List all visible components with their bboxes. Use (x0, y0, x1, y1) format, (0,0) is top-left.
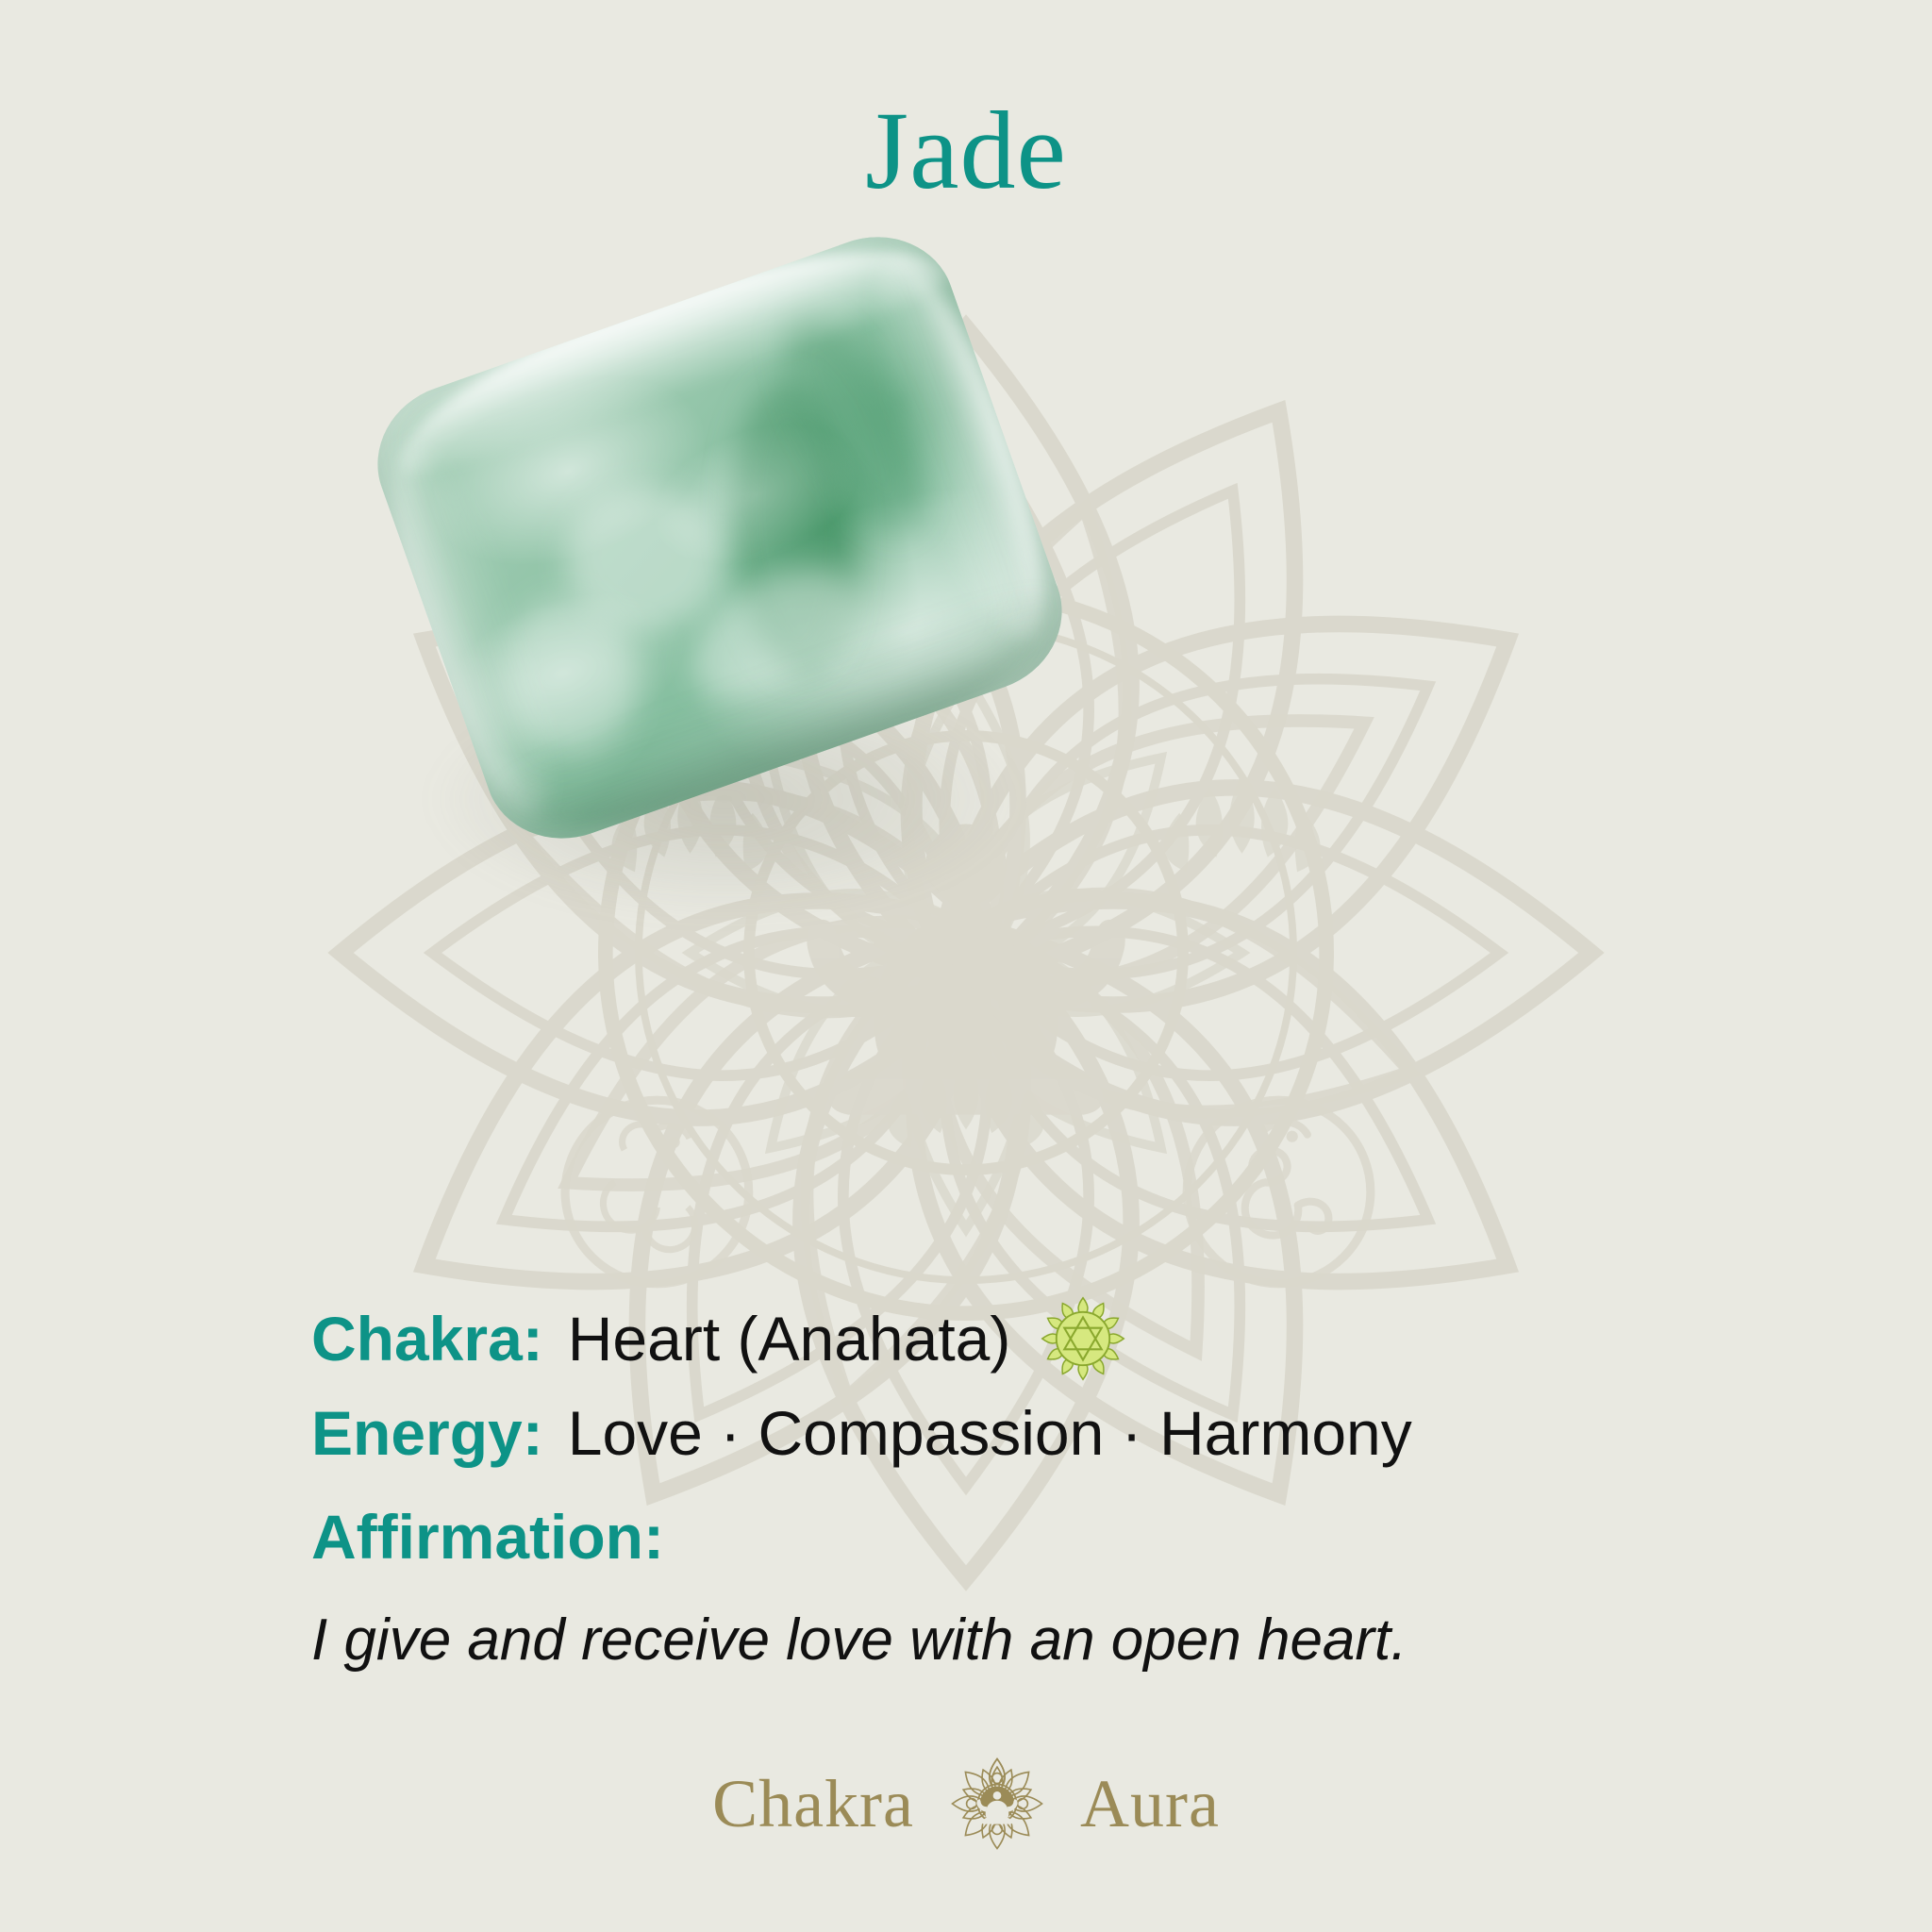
chakra-value: Heart (Anahata) (568, 1307, 1011, 1370)
affirmation-label: Affirmation: (311, 1506, 1651, 1568)
chakra-glyph-left (565, 1100, 749, 1284)
affirmation-text: I give and receive love with an open hea… (311, 1611, 1651, 1670)
page-title: Jade (0, 92, 1932, 209)
jade-stone-image (366, 275, 1121, 936)
energy-value: Love · Compassion · Harmony (568, 1402, 1412, 1464)
lotus-meditation-mandala-logo-icon (946, 1753, 1048, 1855)
energy-row: Energy: Love · Compassion · Harmony (311, 1402, 1651, 1464)
crystal-info-card: Jade Chakra: Heart (Anahata) (0, 0, 1932, 1932)
energy-label: Energy: (311, 1402, 543, 1464)
crystal-attributes: Chakra: Heart (Anahata) (311, 1294, 1651, 1670)
brand-word-left: Chakra (712, 1770, 914, 1838)
chakra-glyph-right (1187, 1100, 1371, 1284)
anahata-chakra-symbol-icon (1039, 1294, 1127, 1383)
chakra-row: Chakra: Heart (Anahata) (311, 1294, 1651, 1383)
chakra-label: Chakra: (311, 1307, 543, 1370)
brand-footer: Chakra (0, 1753, 1932, 1855)
brand-word-right: Aura (1080, 1770, 1220, 1838)
